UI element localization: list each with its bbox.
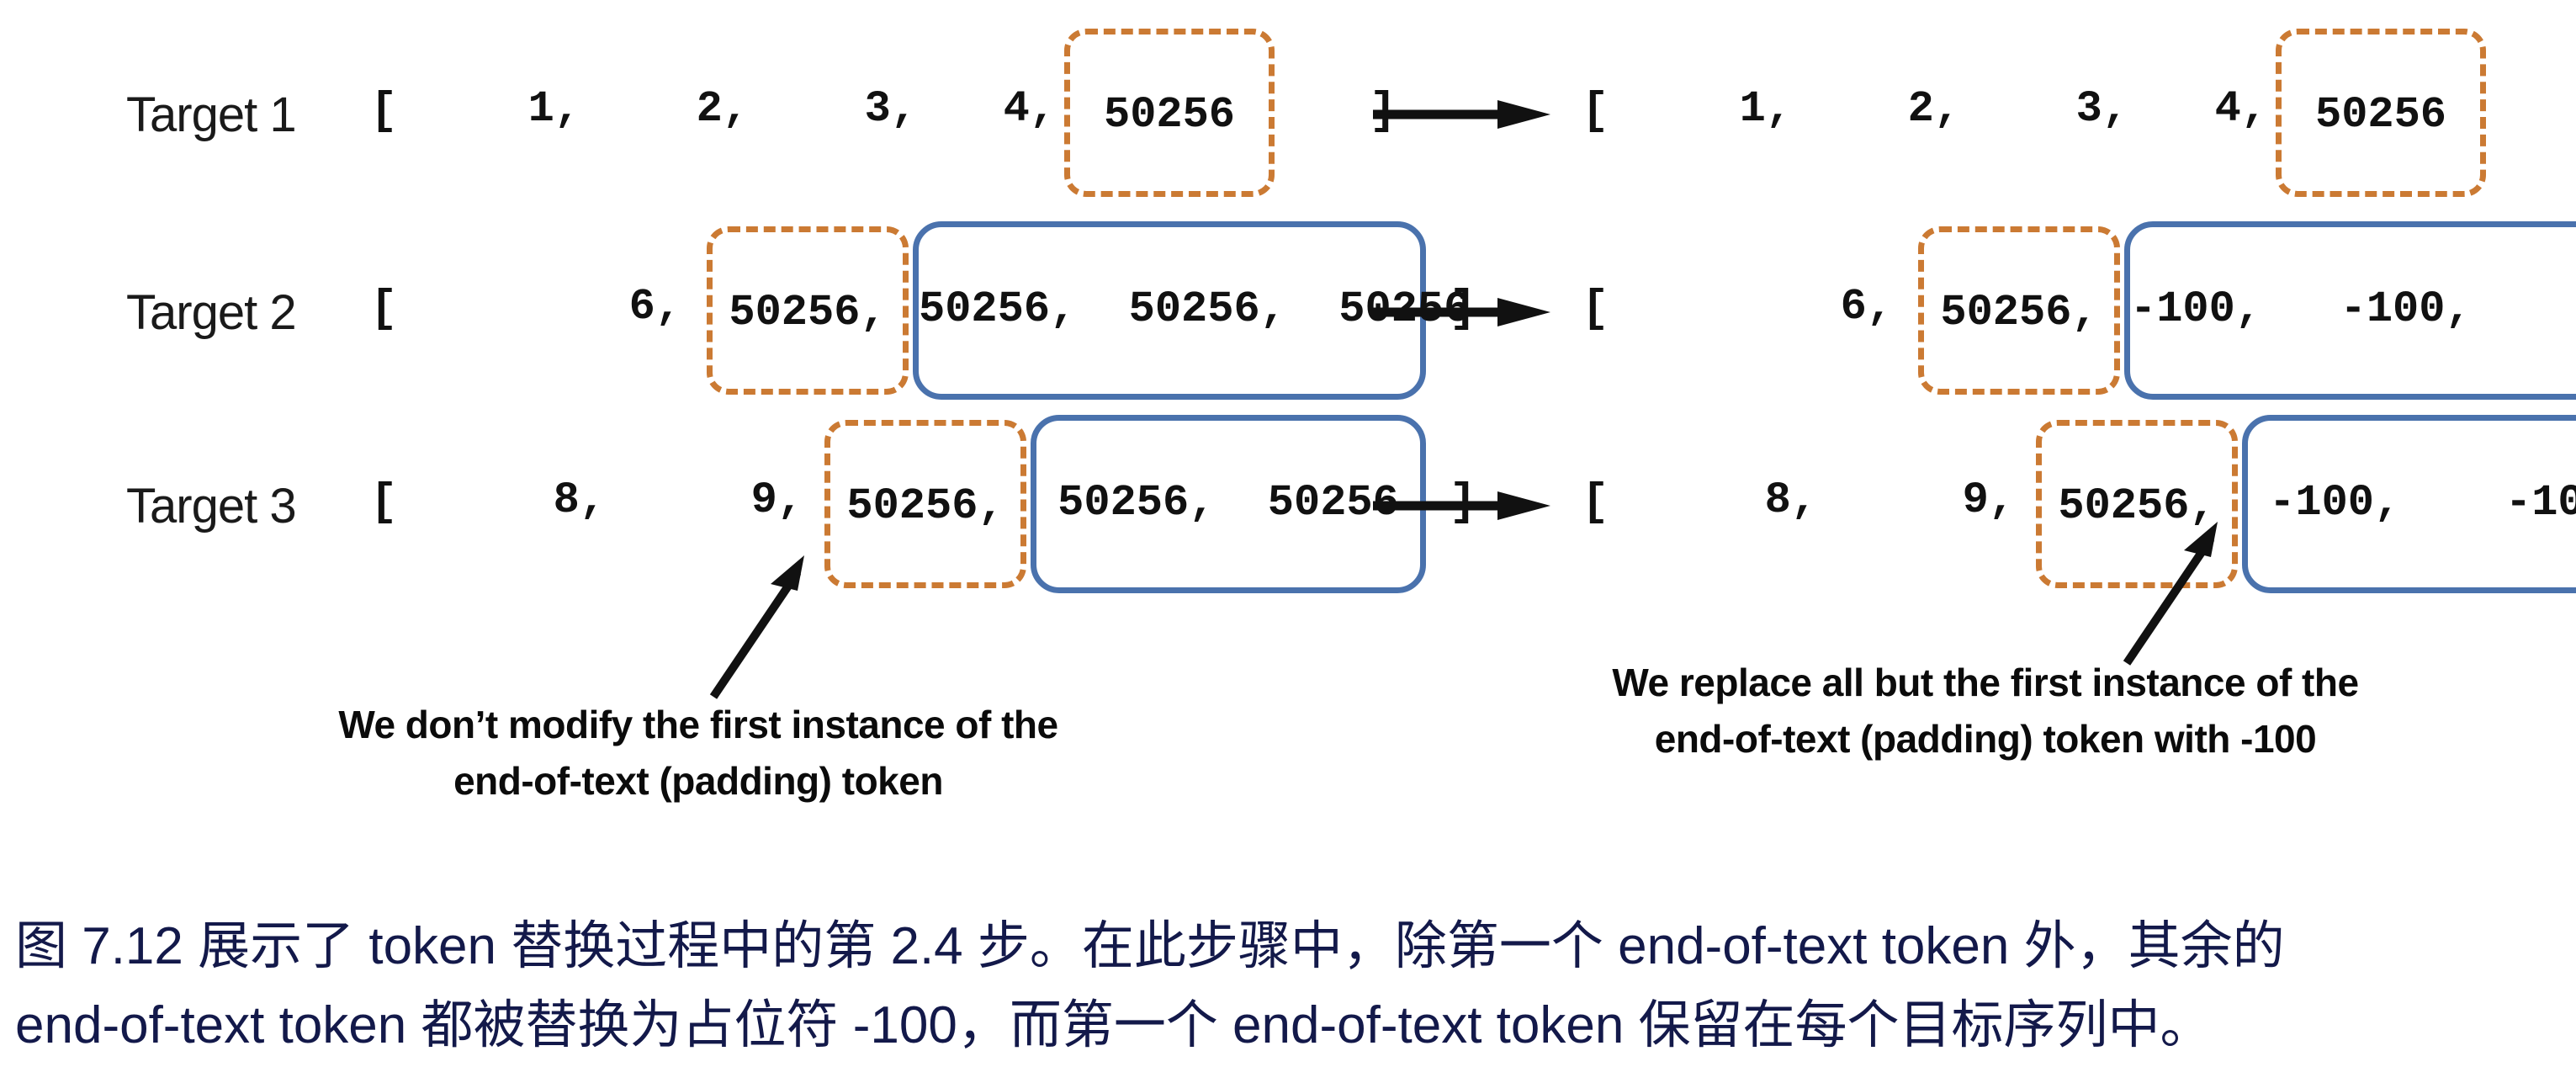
target-row-1: Target 1 [ 1, 2, 3, 4, 50256 ] [ 1, 2, 3… (0, 17, 2576, 210)
token-value: 50256, (830, 485, 1020, 528)
sequence-after-3: [ 8, 9, 50256, -100, -100 ] (1582, 408, 2524, 602)
token-value: 1, (446, 88, 580, 131)
token-value: 4, (2133, 88, 2267, 131)
open-bracket: [ (370, 480, 397, 526)
token-value: 9, (669, 479, 803, 523)
replaced-tokens-box: 50256, 50256 (1031, 415, 1426, 593)
replaced-tokens-box: -100, -100 (2242, 415, 2576, 593)
first-padding-token-highlight: 50256 (2276, 29, 2486, 197)
open-bracket: [ (1582, 89, 1609, 135)
token-value: 50256, (713, 291, 903, 335)
callout-text-right: We replace all but the first instance of… (1540, 655, 2431, 767)
token-values: 50256, 50256, 50256 (919, 288, 1420, 332)
row-label-target-2: Target 2 (126, 289, 296, 337)
token-value: 50256 (2282, 93, 2480, 137)
open-bracket: [ (370, 89, 397, 135)
row-label-target-1: Target 1 (126, 91, 296, 140)
first-padding-token-highlight: 50256, (824, 420, 1026, 588)
first-padding-token-highlight: 50256 (1064, 29, 1275, 197)
token-values: -100, -100 (2248, 481, 2576, 525)
token-value: 4, (921, 88, 1056, 131)
first-padding-token-highlight: 50256, (1918, 226, 2120, 395)
token-value: 3, (782, 88, 917, 131)
token-value: 2, (1826, 88, 1960, 131)
transform-arrow-icon (1371, 489, 1552, 523)
token-value: 2, (614, 88, 749, 131)
row-label-target-3: Target 3 (126, 482, 296, 531)
callout-pointer-left-icon (698, 545, 850, 705)
transform-arrow-icon (1371, 295, 1552, 329)
figure-caption: 图 7.12 展示了 token 替换过程中的第 2.4 步。在此步骤中，除第一… (15, 907, 2556, 1065)
token-value: 3, (1994, 88, 2128, 131)
sequence-before-2: [ 6, 50256, 50256, 50256, 50256 ] (370, 215, 1312, 408)
token-value: 1, (1657, 88, 1792, 131)
token-value: 6, (547, 285, 681, 329)
token-replacement-figure: Target 1 [ 1, 2, 3, 4, 50256 ] [ 1, 2, 3… (0, 0, 2576, 875)
replaced-tokens-box: 50256, 50256, 50256 (913, 221, 1426, 400)
open-bracket: [ (370, 287, 397, 332)
transform-arrow-icon (1371, 98, 1552, 131)
token-value: 6, (1758, 285, 1893, 329)
callout-pointer-right-icon (2112, 512, 2263, 672)
replaced-tokens-box: -100, -100, -100 (2124, 221, 2576, 400)
open-bracket: [ (1582, 287, 1609, 332)
token-value: 8, (471, 479, 606, 523)
callout-text-left: We don’t modify the first instance of th… (252, 697, 1144, 809)
open-bracket: [ (1582, 480, 1609, 526)
token-value: 9, (1880, 479, 2015, 523)
token-values: -100, -100, -100 (2130, 288, 2576, 332)
caption-line-1: 图 7.12 展示了 token 替换过程中的第 2.4 步。在此步骤中，除第一… (15, 907, 2556, 986)
token-value: 50256, (1924, 291, 2114, 335)
sequence-after-2: [ 6, 50256, -100, -100, -100 ] (1582, 215, 2524, 408)
sequence-before-1: [ 1, 2, 3, 4, 50256 ] (370, 17, 1312, 210)
target-row-2: Target 2 [ 6, 50256, 50256, 50256, 50256… (0, 215, 2576, 408)
token-value: 8, (1683, 479, 1817, 523)
first-padding-token-highlight: 50256, (707, 226, 909, 395)
sequence-after-1: [ 1, 2, 3, 4, 50256 ] (1582, 17, 2524, 210)
token-values: 50256, 50256 (1036, 481, 1420, 525)
caption-line-2: end-of-text token 都被替换为占位符 -100，而第一个 end… (15, 986, 2556, 1065)
token-value: 50256 (1070, 93, 1269, 137)
